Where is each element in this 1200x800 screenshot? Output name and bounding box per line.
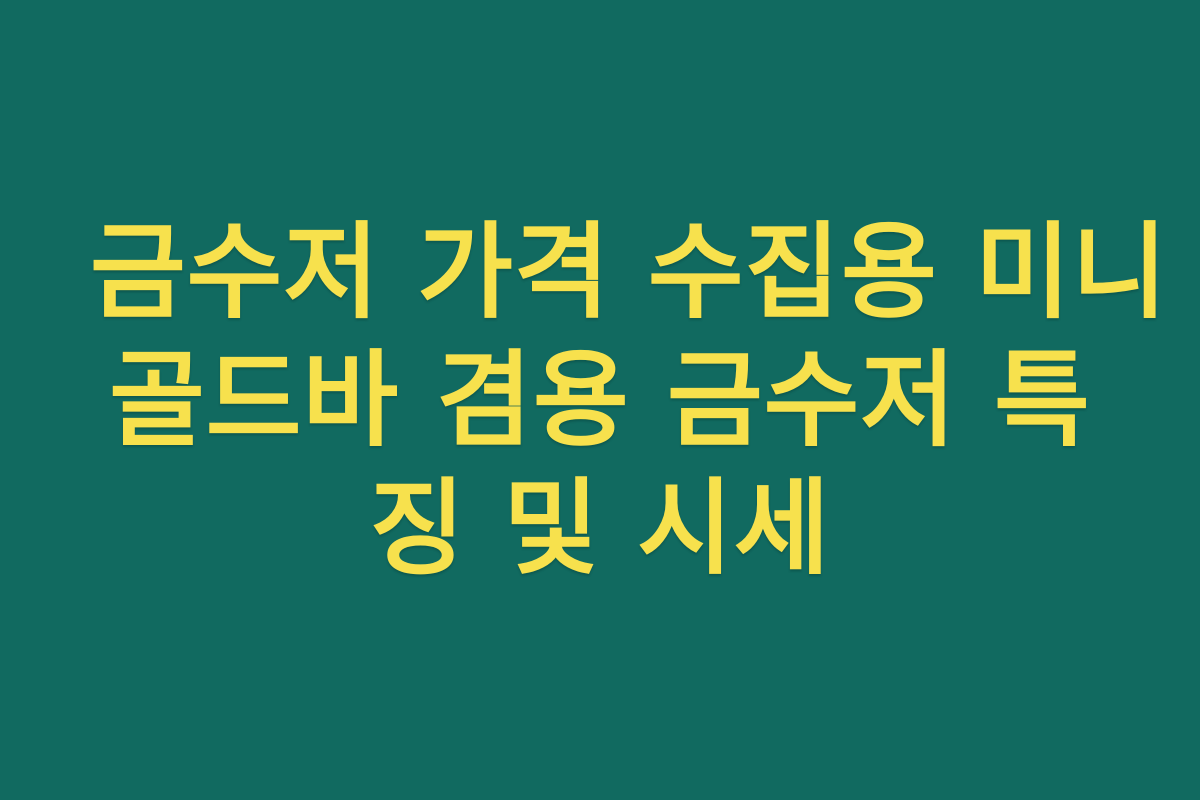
title-banner: 금수저 가격 수집용 미니 골드바 겸용 금수저 특 징 및 시세 [0,0,1200,800]
title-line-3: 징 및 시세 [90,464,1110,592]
page-title: 금수저 가격 수집용 미니 골드바 겸용 금수저 특 징 및 시세 [80,208,1120,592]
title-line-1: 금수저 가격 수집용 미니 [90,208,1110,336]
title-line-2: 골드바 겸용 금수저 특 [90,336,1110,464]
